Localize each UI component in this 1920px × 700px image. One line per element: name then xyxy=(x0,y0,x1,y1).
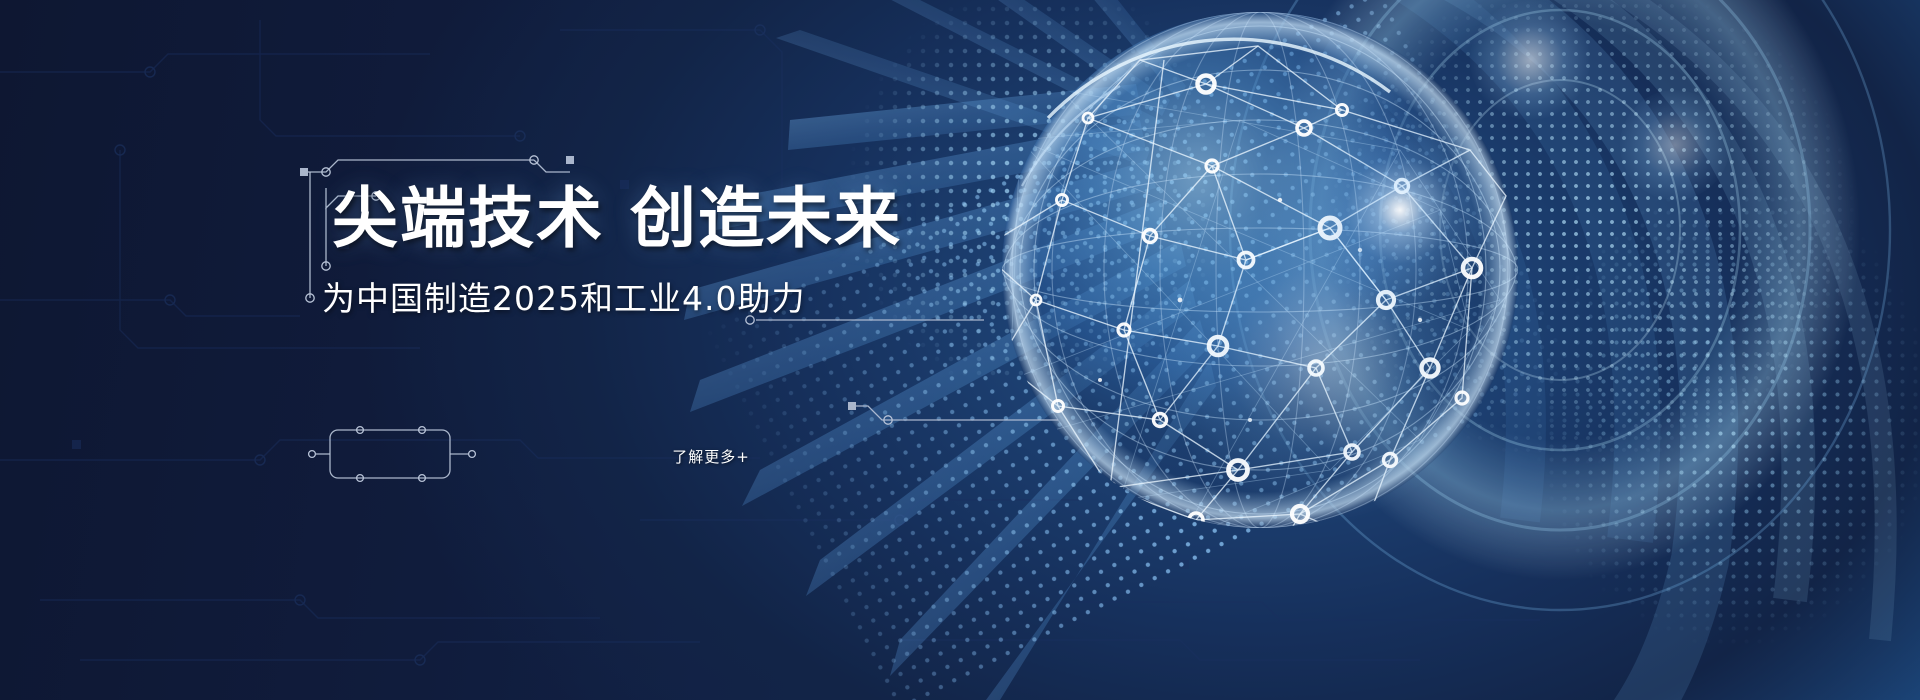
hero-banner: 尖端技术创造未来 为中国制造2025和工业4.0助力 xyxy=(0,0,1920,700)
page-subtitle: 为中国制造2025和工业4.0助力 xyxy=(322,272,805,320)
headline-part-one: 尖端技术 xyxy=(332,180,604,257)
page-title: 尖端技术创造未来 xyxy=(332,182,902,256)
headline-part-two: 创造未来 xyxy=(630,180,902,257)
circuit-frame-icon xyxy=(300,416,560,492)
learn-more-label[interactable]: 了解更多+ xyxy=(656,446,766,467)
circuit-line-icon xyxy=(840,388,1060,432)
learn-more-button[interactable]: 了解更多+ xyxy=(300,416,560,496)
banner-content: 尖端技术创造未来 为中国制造2025和工业4.0助力 xyxy=(0,0,1000,700)
